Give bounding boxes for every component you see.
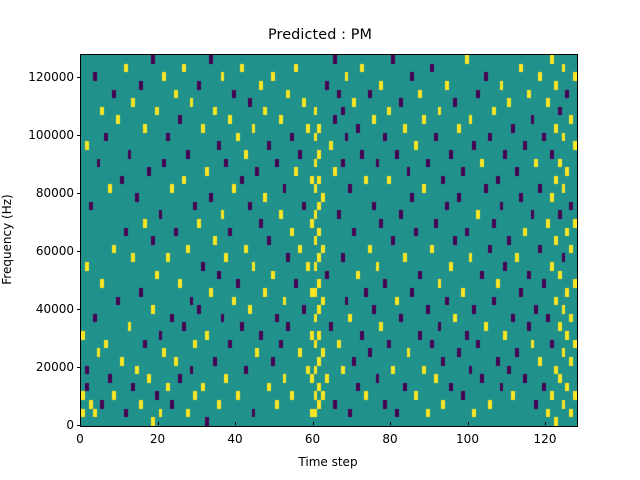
y-tick-mark — [77, 193, 81, 194]
x-axis-label: Time step — [80, 455, 576, 469]
y-tick-mark — [77, 367, 81, 368]
matplotlib-figure: Predicted : PM 0200004000060000800001000… — [0, 0, 640, 480]
y-tick-label: 0 — [66, 418, 74, 432]
x-tick-mark — [158, 422, 159, 426]
x-tick-label: 40 — [227, 432, 242, 446]
x-tick-mark — [468, 422, 469, 426]
x-tick-mark — [80, 422, 81, 426]
x-tick-mark — [390, 422, 391, 426]
x-tick-label: 120 — [534, 432, 557, 446]
x-tick-label: 60 — [305, 432, 320, 446]
y-tick-label: 60000 — [36, 244, 74, 258]
y-axis-label: Frequency (Hz) — [0, 54, 14, 425]
heatmap-canvas — [81, 55, 577, 426]
x-tick-label: 100 — [456, 432, 479, 446]
x-tick-labels: 020406080100120 — [80, 432, 576, 452]
x-tick-label: 80 — [382, 432, 397, 446]
chart-title: Predicted : PM — [0, 27, 640, 43]
x-tick-mark — [313, 422, 314, 426]
heatmap-axes — [80, 54, 578, 427]
y-tick-mark — [77, 309, 81, 310]
y-tick-label: 20000 — [36, 360, 74, 374]
y-tick-label: 40000 — [36, 302, 74, 316]
x-tick-label: 20 — [150, 432, 165, 446]
y-tick-label: 80000 — [36, 186, 74, 200]
y-tick-label: 100000 — [28, 128, 74, 142]
y-axis-label-text: Frequency (Hz) — [0, 54, 14, 425]
y-tick-label: 120000 — [28, 70, 74, 84]
x-tick-marks — [80, 425, 576, 426]
y-tick-marks — [80, 54, 81, 425]
y-tick-mark — [77, 251, 81, 252]
x-tick-mark — [545, 422, 546, 426]
x-tick-label: 0 — [76, 432, 84, 446]
x-tick-mark — [235, 422, 236, 426]
y-tick-mark — [77, 135, 81, 136]
y-tick-mark — [77, 77, 81, 78]
